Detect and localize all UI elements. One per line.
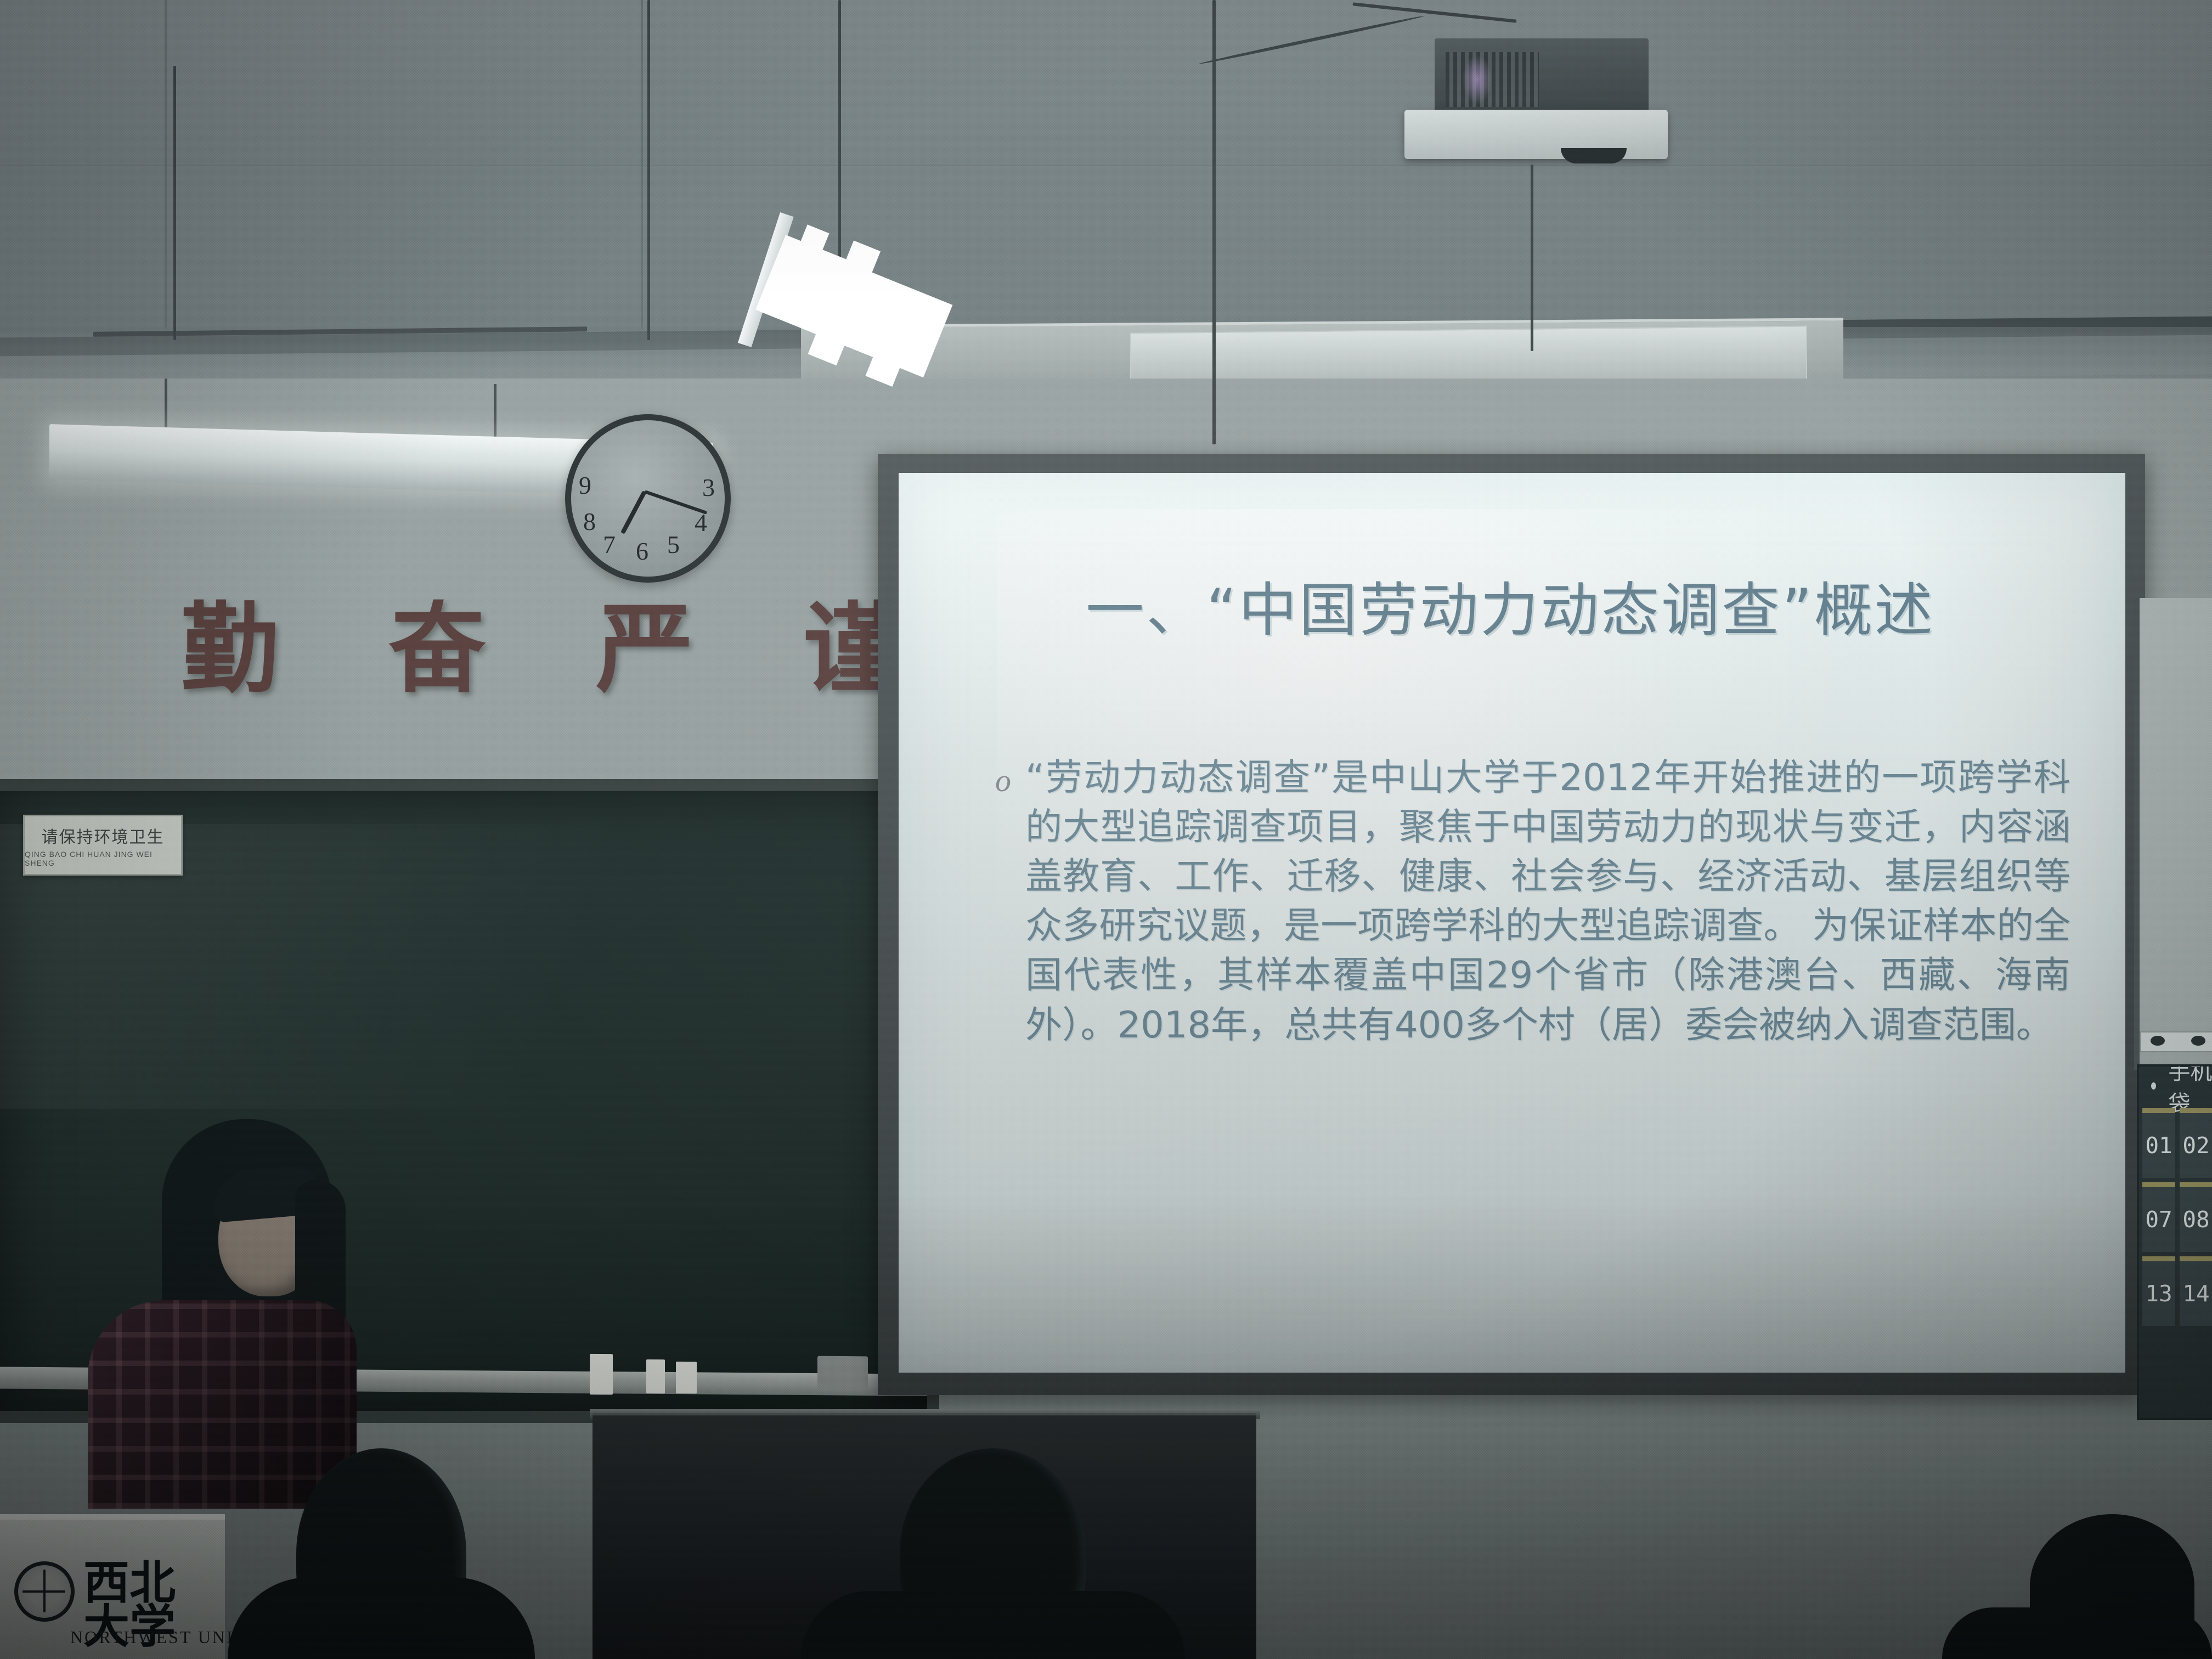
phone-pocket[interactable]: 14 [2180, 1256, 2212, 1326]
bracket-screw [2151, 1036, 2165, 1046]
wall-slogan: 勤 奋 严 谨 [181, 601, 901, 698]
right-wall-bracket [2140, 1031, 2212, 1052]
slide-bullet-marker: o [995, 753, 1011, 1049]
bullet-dot-icon [2151, 1082, 2156, 1090]
hanging-wire [173, 66, 176, 340]
projection-screen: 一、“中国劳动力动态调查”概述 o “劳动力动态调查”是中山大学于2012年开始… [899, 473, 2125, 1373]
chalk-piece [676, 1362, 697, 1393]
clock-numeral: 9 [579, 471, 591, 500]
projector-vent [1446, 52, 1539, 107]
slogan-char: 勤 [181, 601, 279, 698]
hygiene-notice-sign: 请保持环境卫生 QING BAO CHI HUAN JING WEI SHENG [23, 815, 183, 876]
phone-pocket[interactable]: 02 [2180, 1108, 2212, 1178]
clock-numeral: 5 [667, 530, 680, 559]
phone-rack-header: 手机袋 [2139, 1066, 2212, 1105]
projector-lens-icon [1561, 148, 1627, 163]
ceiling-projector [1404, 22, 1679, 165]
clock-numeral: 8 [583, 507, 596, 536]
hanging-wire [1531, 165, 1533, 351]
projection-screen-frame: 一、“中国劳动力动态调查”概述 o “劳动力动态调查”是中山大学于2012年开始… [878, 454, 2145, 1395]
student-body-silhouette [801, 1591, 1185, 1659]
student-body-silhouette [1942, 1607, 2212, 1659]
presenter-shading [88, 1300, 357, 1509]
classroom-photo: 3 4 5 6 7 8 9 勤 奋 严 谨 请保持环境卫生 QING BAO C… [0, 0, 2212, 1659]
projector-indicator-glow [1462, 55, 1492, 104]
hygiene-notice-chinese: 请保持环境卫生 [42, 823, 165, 848]
chalk-piece [590, 1354, 613, 1395]
phone-pocket[interactable]: 01 [2142, 1108, 2175, 1178]
light-hanger [494, 384, 496, 444]
university-seal-icon [14, 1561, 75, 1622]
phone-storage-rack[interactable]: 手机袋 01 02 07 08 13 14 [2137, 1064, 2212, 1420]
clock-numeral: 3 [702, 473, 715, 502]
slide-title: 一、“中国劳动力动态调查”概述 [932, 578, 2089, 644]
hanging-wire [1212, 0, 1216, 444]
chalk-piece [646, 1359, 665, 1393]
clock-minute-hand [644, 490, 707, 515]
blackboard-eraser [817, 1356, 868, 1390]
clock-hour-hand [620, 490, 646, 534]
right-wall-panel [2134, 598, 2212, 1070]
phone-pocket[interactable]: 08 [2180, 1182, 2212, 1252]
slide-body: o “劳动力动态调查”是中山大学于2012年开始推进的一项跨学科的大型追踪调查项… [995, 753, 2070, 1049]
slide-body-text: “劳动力动态调查”是中山大学于2012年开始推进的一项跨学科的大型追踪调查项目，… [1025, 753, 2070, 1049]
clock-numeral: 6 [636, 537, 648, 566]
hygiene-notice-pinyin: QING BAO CHI HUAN JING WEI SHENG [25, 850, 181, 867]
projector-body [1404, 110, 1668, 159]
bracket-screw [2191, 1036, 2205, 1046]
hanging-wire [647, 0, 650, 340]
slogan-char: 奋 [388, 601, 486, 698]
phone-rack-grid: 01 02 07 08 13 14 [2139, 1105, 2212, 1329]
slogan-char: 严 [596, 601, 693, 698]
ceiling-seam [0, 165, 2212, 166]
clock-numeral: 7 [603, 530, 616, 559]
wall-clock: 3 4 5 6 7 8 9 [565, 414, 731, 583]
student-body-silhouette [228, 1577, 535, 1659]
presenter [66, 1119, 373, 1503]
phone-pocket[interactable]: 07 [2142, 1182, 2175, 1252]
phone-pocket[interactable]: 13 [2142, 1256, 2175, 1326]
